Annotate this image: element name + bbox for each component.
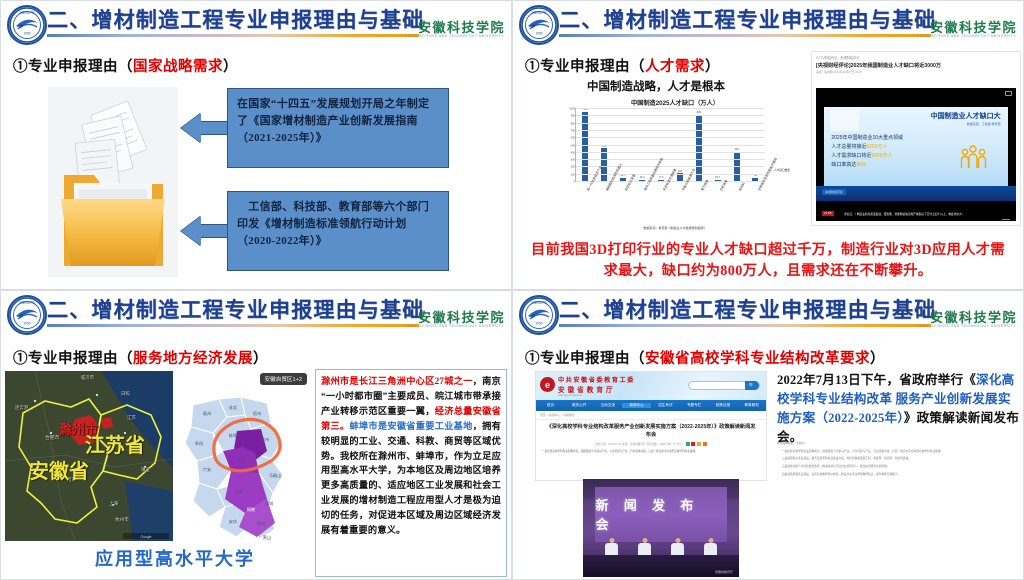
title-underline-rule — [47, 34, 419, 37]
svg-text:六安: 六安 — [203, 466, 211, 473]
university-name-en: ANHUI SCIENCE AND TECHNOLOGY UNIVERSITY — [405, 34, 504, 38]
svg-text:1950: 1950 — [23, 32, 30, 36]
site-nav[interactable]: 首页 政务公开 互动交流 新闻中心 招生考试 专题专栏 政策法规 教育服务 — [536, 400, 766, 411]
map-small-label-shanghai: 上海 — [109, 501, 118, 507]
svg-text:蚌埠: 蚌埠 — [229, 432, 238, 439]
video-stat-1-value: 6200万人 — [866, 144, 887, 150]
paragraph-run-5: 日下午，省政府举行《 — [848, 373, 976, 387]
slide-3-section-heading: ①专业申报理由（服务地方经济发展） — [13, 347, 268, 368]
weibo-icon[interactable] — [691, 442, 695, 446]
chart-x-tick: 生物医药及高性能医疗器械 — [756, 184, 763, 192]
nav-item-1[interactable]: 政务公开 — [565, 403, 594, 408]
callout-1-arrow-icon — [181, 113, 227, 143]
slide-3[interactable]: 1950 安徽科技学院 二、增材制造工程专业申报理由与基础 安徽科技学院 ANH… — [0, 290, 512, 580]
chart-y-tick: 200 — [571, 166, 576, 169]
side-note-1: 一是优化高校学科专业结构布局，围绕我省十大新兴产业，人才培养与产业、行业需求对接… — [777, 449, 1021, 455]
video-program-tag: 央视财经评论 — [822, 189, 846, 195]
video-progress-bar[interactable] — [1002, 219, 1010, 220]
slide-1-section-heading: ①专业申报理由（国家战略需求） — [13, 55, 238, 76]
slide-deck: 1950 安徽科技学院 二、增材制造工程专业申报理由与基础 安徽科技学院 ANH… — [0, 0, 1024, 580]
paragraph-run-4: 13 — [835, 373, 848, 387]
website-banner: e 中共安徽省委教育工委 安徽省教育厅 http://jyt.ah.gov.cn… — [536, 372, 766, 400]
talent-gap-bar-chart: 中国制造2025人才缺口（万人） 95045042.516.417.310390… — [559, 98, 791, 238]
slide-4-section-heading: ①专业申报理由（安徽省高校学科专业结构改革要求） — [525, 347, 885, 368]
slide-1[interactable]: 1950 安徽科技学院 二、增材制造工程专业申报理由与基础 安徽科技学院 ANH… — [0, 0, 512, 290]
video-stat-1: 人才总量将接近6200万人 — [831, 143, 952, 150]
chart-plot-area: 95045042.516.417.310390916.740045 100090… — [575, 108, 765, 182]
university-name-en: ANHUI SCIENCE AND TECHNOLOGY UNIVERSITY — [405, 324, 504, 328]
person-2 — [638, 538, 651, 555]
chart-y-tick: 600 — [571, 137, 576, 140]
chart-source-note: 数据来源：教育部《制造业人才发展规划指南》 — [559, 226, 791, 230]
map-label-jiangsu-province: 江苏省 — [85, 429, 145, 458]
slide-3-footer-caption: 应用型高水平大学 — [95, 545, 255, 571]
backdrop-banner-text: 新 闻 发 布 会 — [595, 495, 726, 533]
title-underline-rule — [559, 34, 931, 37]
chart-bar-value-label: 909 — [697, 111, 701, 114]
video-slide-content: 中国制造业人才缺口大 数据来源：工信部 教育部 2025年中国制造业10大重点领… — [824, 107, 1008, 187]
chart-bar-value-label: 16.4 — [640, 176, 645, 179]
video-stat-2: 人才需求缺口将近3000万人 — [831, 152, 952, 159]
callout-2-arrow-icon — [181, 216, 227, 246]
paragraph-run-0: 2022 — [777, 373, 803, 387]
svg-text:铜陵: 铜陵 — [247, 506, 256, 513]
nav-item-5[interactable]: 专题专栏 — [680, 403, 709, 408]
slide-title: 二、增材制造工程专业申报理由与基础 — [559, 4, 936, 34]
slide-2-header: 1950 安徽科技学院 二、增材制造工程专业申报理由与基础 安徽科技学院 ANH… — [515, 3, 1021, 49]
svg-text:黄山: 黄山 — [263, 534, 271, 541]
paragraph-run-1: 年 — [803, 373, 816, 387]
site-search-input[interactable]: 🔍 — [688, 381, 760, 390]
ticker-text: 评论员：（ 制造业的高质量发展、更智能、智能制造和高端产能指标下百分之四十以上，… — [844, 212, 1010, 216]
nav-item-6[interactable]: 政策法规 — [709, 403, 738, 408]
chart-gridline: 700 — [576, 130, 765, 131]
slide-3-header: 1950 安徽科技学院 二、增材制造工程专业申报理由与基础 安徽科技学院 ANH… — [3, 293, 509, 339]
site-url: http://jyt.ah.gov.cn — [558, 393, 582, 397]
nav-item-0[interactable]: 首页 — [536, 403, 565, 408]
video-stat-lines: 2025年中国制造业10大重点领域 人才总量将接近6200万人 人才需求缺口将近… — [831, 134, 952, 168]
news-headline: [央视财经评论]2025年我国制造业人才缺口将近3000万 — [816, 62, 1016, 69]
ticker-time: 21:56 — [822, 211, 834, 216]
chart-gridline: 600 — [576, 137, 765, 138]
satellite-map: Google 临沂市 日照 连云港 江苏 合肥市 南京 镇江 上海 杭州市 滁州… — [5, 371, 173, 541]
svg-text:宣城: 宣城 — [265, 500, 274, 507]
chart-x-tick: 电力装备 — [699, 184, 706, 192]
chart-x-tick: 高档数控机床和机器人 — [604, 184, 611, 192]
slide-title: 二、增材制造工程专业申报理由与基础 — [47, 294, 424, 324]
side-note-2: 二是加强新兴专业建设，加大急需紧缺专业建设力度，支持高校加强新工科、新医科、新农… — [777, 456, 1021, 462]
cctv-news-screenshot[interactable]: CCTV财经评论 · 央视财经评论 [央视财经评论]2025年我国制造业人才缺口… — [811, 51, 1021, 226]
chart-bar-value-label: 103 — [678, 170, 682, 173]
svg-text:合肥: 合肥 — [237, 456, 246, 463]
chart-gridline: 300 — [576, 159, 765, 160]
section-highlight: 服务地方经济发展 — [133, 351, 253, 367]
panel-run-3: 蚌埠市是安徽省重要工业基地 — [349, 421, 472, 431]
map-label-anhui-province: 安徽省 — [29, 455, 89, 484]
nav-item-2[interactable]: 互动交流 — [594, 403, 623, 408]
chart-gridline: 1000 — [576, 108, 765, 109]
documents-folder-image — [48, 87, 178, 277]
slide-title: 二、增材制造工程专业申报理由与基础 — [47, 4, 424, 34]
wechat-icon[interactable] — [686, 442, 690, 446]
university-logo-icon: 1950 安徽科技学院 — [7, 295, 47, 335]
map-small-label-linyi: 临沂市 — [81, 375, 94, 381]
video-logo-placeholder — [830, 110, 859, 131]
fullscreen-icon[interactable] — [1005, 91, 1012, 96]
print-icon[interactable] — [703, 442, 707, 446]
chart-y-tick: 100 — [571, 173, 576, 176]
svg-text:马鞍山: 马鞍山 — [269, 472, 282, 479]
panel-run-0: 滁州市是长江三角洲中心区27城之一 — [321, 376, 473, 386]
university-logo-icon: 1950 安徽科技学院 — [519, 295, 559, 335]
people-icons — [960, 137, 997, 169]
chart-legend: 人才缺口数量 — [774, 168, 790, 172]
chart-x-tick: 先进轨道交通装备 — [661, 184, 668, 192]
section-suffix: ） — [223, 59, 238, 75]
chart-gridline: 400 — [576, 152, 765, 153]
university-logo-icon: 1950 安徽科技学院 — [7, 5, 47, 45]
chart-y-tick: 800 — [571, 122, 576, 125]
title-underline-rule — [559, 324, 931, 327]
qq-icon[interactable] — [697, 442, 701, 446]
chart-x-tick: 农机装备 — [718, 184, 725, 192]
chart-gridline: 800 — [576, 123, 765, 124]
chart-y-tick: 400 — [571, 151, 576, 154]
svg-text:安徽科技学院: 安徽科技学院 — [531, 300, 547, 304]
video-stat-1-label: 人才总量将接近 — [831, 144, 866, 150]
map-small-label-rizhao: 日照 — [121, 391, 130, 397]
section-prefix: ①专业申报理由（ — [13, 351, 133, 367]
chart-bar: 450 — [601, 148, 607, 181]
nav-item-4[interactable]: 招生考试 — [651, 403, 680, 408]
ftz-map-pill-label: 安徽自贸区1+2 — [260, 373, 307, 385]
article-body-preview: 一是优化高校学科专业结构布局，围绕我省十大新兴产业，人才培养与产业、行业需求对接… — [536, 446, 766, 459]
press-conference-photo: 新 闻 发 布 会 安徽省教育厅 — [583, 479, 739, 577]
svg-text:阜阳: 阜阳 — [195, 440, 203, 447]
svg-text:安庆: 安庆 — [229, 518, 238, 525]
slide-title: 二、增材制造工程专业申报理由与基础 — [559, 294, 936, 324]
slide-2-conclusion: 目前我国3D打印行业的专业人才缺口超过千万，制造行业对3D应用人才需求最大，缺口… — [525, 240, 1011, 281]
chart-x-tick: 新材料 — [737, 184, 744, 192]
video-stat-3-label: 缺口率高达 — [831, 162, 856, 168]
chart-bar-value-label: 17.3 — [659, 176, 664, 179]
chart-gridline: 500 — [576, 145, 765, 146]
svg-text:安徽科技学院: 安徽科技学院 — [19, 300, 35, 304]
video-stat-2-label: 人才需求缺口将近 — [831, 153, 871, 159]
section-suffix: ） — [253, 351, 268, 367]
map-small-label-lianyungang: 连云港 — [15, 405, 28, 411]
article-title: 《深化高校学科专业结构改革服务产业创新发展实施方案（2022-2025年）》政策… — [536, 420, 766, 442]
panel-run-4: ，拥有较明显的工业、交通、科教、商贸等区域优势。我校所在滁州市、蚌埠市，作为立足… — [321, 421, 501, 535]
chart-x-tick: 海洋工程装备及高技术船舶 — [642, 184, 649, 192]
video-title: 中国制造业人才缺口大 — [931, 111, 1001, 121]
slide-3-text-panel: 滁州市是长江三角洲中心区27城之一，南京“一小时都市圈”主要成员、皖江城市带承接… — [315, 369, 507, 577]
chart-y-tick: 900 — [571, 115, 576, 118]
svg-text:宿州: 宿州 — [253, 410, 261, 417]
person-1 — [605, 538, 618, 555]
education-department-website[interactable]: e 中共安徽省委教育工委 安徽省教育厅 http://jyt.ah.gov.cn… — [535, 371, 767, 481]
chart-bar-value-label: 16.7 — [715, 176, 720, 179]
video-stat-0: 2025年中国制造业10大重点领域 — [831, 134, 952, 141]
site-breadcrumb[interactable]: 首页 > 新闻中心 > 省级新闻 — [536, 411, 766, 420]
map-small-label-hangzhou: 杭州市 — [115, 517, 129, 523]
video-stat-2-value: 3000万人 — [871, 153, 892, 159]
side-note-3: 三是深化高校人才培养模式改革，推进高校与行业企业协同育人，建立校企联合培养机制。 — [777, 464, 1021, 470]
slide-1-header: 1950 安徽科技学院 二、增材制造工程专业申报理由与基础 安徽科技学院 ANH… — [3, 3, 509, 49]
chart-x-axis-labels: 新一代信息技术产业高档数控机床和机器人航空航天装备海洋工程装备及高技术船舶先进轨… — [575, 182, 765, 224]
title-underline-rule — [47, 324, 419, 327]
nav-item-3[interactable]: 新闻中心 — [622, 403, 651, 408]
search-icon[interactable]: 🔍 — [745, 381, 759, 390]
video-stat-3-value: 48% — [856, 162, 866, 168]
slide-4-side-notes: 各位媒体朋友，大家好！一是优化高校学科专业结构布局，围绕我省十大新兴产业，人才培… — [777, 441, 1021, 479]
free-trade-zone-map: 亳州淮北宿州 阜阳蚌埠滁州 合肥六安马鞍山 芜湖宣城 安庆池州黄山 铜陵 安徽自… — [175, 371, 309, 551]
person-3 — [671, 538, 684, 555]
callout-2: 工信部、科技部、教育部等六个部门印发《增材制造标准领航行动计划（2020-202… — [227, 191, 449, 271]
news-brand: CCTV财经评论 · 央视财经评论 — [816, 55, 1016, 60]
chart-title: 中国制造2025人才缺口（万人） — [559, 98, 791, 107]
university-logo-icon: 1950 安徽科技学院 — [519, 5, 559, 45]
news-meta: 来源：央视网 2021年12月07日 22:37 — [816, 70, 1016, 74]
chart-y-tick: 700 — [571, 129, 576, 132]
callout-1: 在国家“十四五”发展规划开局之年制定了《国家增材制造产业创新发展指南（2021-… — [227, 88, 449, 168]
section-suffix: ） — [870, 351, 885, 367]
site-emblem-icon: e — [540, 377, 555, 392]
video-stat-3: 缺口率高达48% — [831, 161, 952, 168]
chart-y-tick: 1000 — [569, 108, 576, 111]
svg-text:1950: 1950 — [535, 322, 542, 326]
section-highlight: 人才需求 — [645, 59, 705, 75]
photo-watermark: 安徽省教育厅 — [715, 570, 733, 574]
slide-2[interactable]: 1950 安徽科技学院 二、增材制造工程专业申报理由与基础 安徽科技学院 ANH… — [512, 0, 1024, 290]
section-highlight: 国家战略需求 — [133, 59, 223, 75]
side-note-4: 四是加强师资队伍建设，完善高校教师评价体系，建设高水平双师型教师队伍，提升教师实… — [777, 472, 1021, 478]
chart-y-tick: 500 — [571, 144, 576, 147]
chart-bar: 909 — [696, 115, 702, 181]
section-prefix: ①专业申报理由（ — [13, 59, 133, 75]
university-name-en: ANHUI SCIENCE AND TECHNOLOGY UNIVERSITY — [917, 34, 1016, 38]
side-note-0: 各位媒体朋友，大家好！ — [777, 441, 1021, 447]
slide-4-paragraph: 2022年7月13日下午，省政府举行《深化高校学科专业结构改革 服务产业创新发展… — [777, 371, 1021, 448]
chart-gridline: 900 — [576, 115, 765, 116]
section-suffix: ） — [705, 59, 720, 75]
news-video-player[interactable]: 中国制造业人才缺口大 数据来源：工信部 教育部 2025年中国制造业10大重点领… — [816, 88, 1016, 221]
svg-text:Google: Google — [141, 535, 152, 539]
chart-gridline: 200 — [576, 166, 765, 167]
chart-x-tick: 节能与新能源汽车 — [680, 184, 687, 192]
svg-text:滁州: 滁州 — [261, 436, 269, 443]
person-4 — [704, 538, 717, 555]
stage-backdrop: 新 闻 发 布 会 — [595, 487, 726, 542]
map-small-label-jiangsu: 江苏 — [127, 415, 136, 421]
chart-y-tick: 300 — [571, 159, 576, 162]
slide-2-subtitle: 中国制造战略，人才是根本 — [587, 78, 725, 94]
map-small-label-hefei: 合肥市 — [45, 434, 59, 441]
map-small-label-zhenjiang: 镇江 — [141, 467, 150, 473]
site-org-line-1: 中共安徽省委教育工委 — [558, 375, 635, 384]
article-body-text: 一是优化高校学科专业结构布局，围绕我省十大新兴产业，人才培养与产业、行业需求对接… — [542, 450, 698, 453]
svg-text:芜湖: 芜湖 — [235, 488, 243, 495]
university-name-en: ANHUI SCIENCE AND TECHNOLOGY UNIVERSITY — [917, 324, 1016, 328]
svg-text:淮北: 淮北 — [229, 404, 238, 411]
svg-text:池州: 池州 — [257, 520, 265, 526]
svg-text:1950: 1950 — [535, 32, 542, 36]
video-subtitle: 数据来源：工信部 教育部 — [967, 122, 1001, 126]
svg-text:安徽科技学院: 安徽科技学院 — [531, 10, 547, 14]
section-prefix: ①专业申报理由（ — [525, 351, 645, 367]
paragraph-run-3: 月 — [822, 373, 835, 387]
slide-4[interactable]: 1950 安徽科技学院 二、增材制造工程专业申报理由与基础 安徽科技学院 ANH… — [512, 290, 1024, 580]
section-highlight: 安徽省高校学科专业结构改革要求 — [645, 351, 870, 367]
slide-4-header: 1950 安徽科技学院 二、增材制造工程专业申报理由与基础 安徽科技学院 ANH… — [515, 293, 1021, 339]
chart-x-tick: 新一代信息技术产业 — [585, 184, 592, 192]
svg-text:1950: 1950 — [23, 322, 30, 326]
article-meta-text: 发布日期：2022-07-13 来源：安徽省教育厅 浏览次数：1289 字体：大… — [595, 443, 683, 446]
svg-text:亳州: 亳州 — [203, 410, 211, 416]
chart-x-tick: 航空航天装备 — [623, 184, 630, 192]
nav-item-7[interactable]: 教育服务 — [737, 403, 766, 408]
slide-2-section-heading: ①专业申报理由（人才需求） — [525, 55, 720, 76]
chart-bar-value-label: 42.5 — [621, 174, 626, 177]
svg-text:安徽科技学院: 安徽科技学院 — [19, 10, 35, 14]
section-prefix: ①专业申报理由（ — [525, 59, 645, 75]
